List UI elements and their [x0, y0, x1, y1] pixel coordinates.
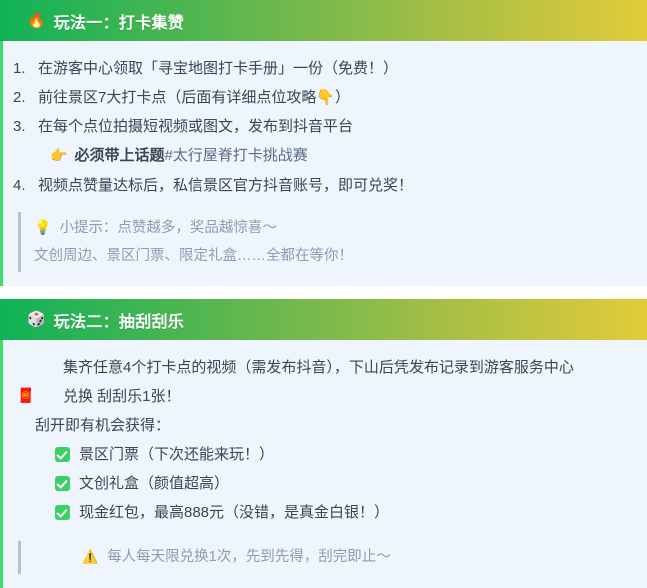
section-one-header: 🔥 玩法一：打卡集赞 [0, 0, 647, 41]
warning-icon: ⚠️ [82, 544, 98, 572]
hashtag-label: #太行屋脊打卡挑战赛 [164, 141, 307, 170]
check-mark-icon [55, 447, 70, 462]
list-item: 3. 在每个点位拍摄短视频或图文，发布到抖音平台 [3, 112, 647, 141]
tip-line-primary: 💡 小提示：点赞越多，奖品越惊喜～ [34, 214, 647, 242]
list-item: 景区门票（下次还能来玩！） [3, 440, 647, 469]
tip-callout: 💡 小提示：点赞越多，奖品越惊喜～ 文创周边、景区门票、限定礼盒……全都在等你！ [18, 212, 647, 272]
tip-text-primary: 小提示：点赞越多，奖品越惊喜～ [59, 214, 277, 242]
step-number: 4. [13, 171, 38, 200]
promo-page: 🔥 玩法一：打卡集赞 1. 在游客中心领取「寻宝地图打卡手册」一份（免费！） 2… [0, 0, 647, 556]
check-mark-icon [55, 505, 70, 520]
exchange-paragraph: 🧧 集齐任意4个打卡点的视频（需发布抖音），下山后凭发布记录到游客服务中心 兑换… [3, 353, 647, 411]
lightbulb-icon: 💡 [34, 214, 51, 242]
prize-label: 景区门票（下次还能来玩！） [79, 440, 274, 469]
step-text: 在游客中心领取「寻宝地图打卡手册」一份（免费！） [38, 54, 398, 83]
section-divider [0, 286, 647, 299]
hashtag-requirement-text: 必须带上话题 [74, 141, 164, 170]
step-number: 2. [13, 83, 38, 112]
section-playstyle-one: 🔥 玩法一：打卡集赞 1. 在游客中心领取「寻宝地图打卡手册」一份（免费！） 2… [0, 0, 647, 286]
list-item: 2. 前往景区7大打卡点（后面有详细点位攻略👇） [3, 83, 647, 112]
exchange-paragraph-line1: 集齐任意4个打卡点的视频（需发布抖音），下山后凭发布记录到游客服务中心 [35, 353, 633, 382]
prize-label: 文创礼盒（颜值超高） [79, 469, 229, 498]
list-item: 4. 视频点赞量达标后，私信景区官方抖音账号，即可兑奖！ [3, 171, 647, 200]
section-one-title: 玩法一：打卡集赞 [54, 9, 184, 33]
check-mark-icon [55, 476, 70, 491]
fire-icon: 🔥 [27, 13, 46, 28]
hashtag-requirement-line: 👉 必须带上话题 #太行屋脊打卡挑战赛 [3, 141, 647, 171]
tip-text-secondary: 文创周边、景区门票、限定礼盒……全都在等你！ [34, 242, 353, 270]
list-item: 文创礼盒（颜值超高） [3, 469, 647, 498]
prize-label: 现金红包，最高888元（没错，是真金白银！） [79, 498, 389, 527]
game-die-icon: 🎲 [27, 312, 46, 327]
warning-text: 每人每天限兑换1次，先到先得，刮完即止～ [107, 543, 391, 571]
section-one-body: 1. 在游客中心领取「寻宝地图打卡手册」一份（免费！） 2. 前往景区7大打卡点… [0, 41, 647, 286]
warning-line: ⚠️ 每人每天限兑换1次，先到先得，刮完即止～ [34, 543, 647, 572]
section-two-body: 🧧 集齐任意4个打卡点的视频（需发布抖音），下山后凭发布记录到游客服务中心 兑换… [0, 340, 647, 588]
step-number: 3. [13, 112, 38, 141]
step-text: 前往景区7大打卡点（后面有详细点位攻略👇） [38, 83, 350, 112]
step-number: 1. [13, 54, 38, 83]
exchange-paragraph-line2: 兑换 刮刮乐1张！ [35, 382, 633, 411]
step-text: 在每个点位拍摄短视频或图文，发布到抖音平台 [38, 112, 353, 141]
red-envelope-icon: 🧧 [17, 382, 34, 411]
pointing-right-icon: 👉 [50, 142, 67, 171]
tip-line-secondary: 文创周边、景区门票、限定礼盒……全都在等你！ [34, 242, 647, 270]
section-two-header: 🎲 玩法二：抽刮刮乐 [0, 299, 647, 340]
warning-callout: ⚠️ 每人每天限兑换1次，先到先得，刮完即止～ [18, 541, 647, 574]
list-item: 1. 在游客中心领取「寻宝地图打卡手册」一份（免费！） [3, 54, 647, 83]
prizes-heading: 刮开即有机会获得： [3, 411, 647, 440]
step-text: 视频点赞量达标后，私信景区官方抖音账号，即可兑奖！ [38, 171, 413, 200]
section-playstyle-two: 🎲 玩法二：抽刮刮乐 🧧 集齐任意4个打卡点的视频（需发布抖音），下山后凭发布记… [0, 299, 647, 588]
section-two-title: 玩法二：抽刮刮乐 [54, 308, 184, 332]
list-item: 现金红包，最高888元（没错，是真金白银！） [3, 498, 647, 527]
